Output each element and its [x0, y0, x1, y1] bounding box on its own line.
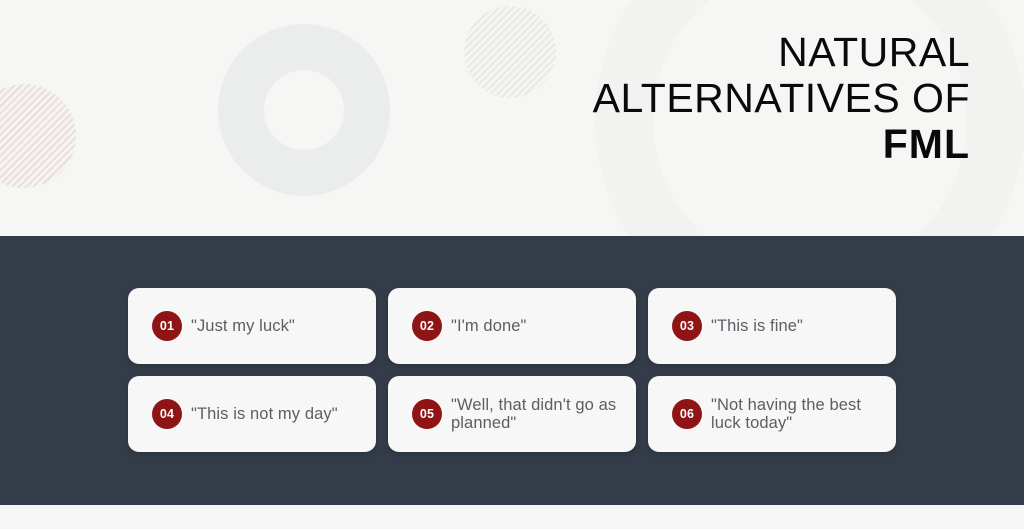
list-item[interactable]: 06 "Not having the best luck today"	[648, 376, 896, 452]
card-number-badge: 03	[672, 311, 702, 341]
title-line-3: FML	[593, 122, 970, 168]
list-item[interactable]: 02 "I'm done"	[388, 288, 636, 364]
card-number-badge: 04	[152, 399, 182, 429]
list-item[interactable]: 05 "Well, that didn't go as planned"	[388, 376, 636, 452]
alternatives-section: 01 "Just my luck" 02 "I'm done" 03 "This…	[0, 236, 1024, 505]
list-item[interactable]: 01 "Just my luck"	[128, 288, 376, 364]
page-title: NATURAL ALTERNATIVES OF FML	[593, 30, 970, 168]
card-number-badge: 05	[412, 399, 442, 429]
title-line-2: ALTERNATIVES OF	[593, 76, 970, 122]
striped-circle-gray-icon	[464, 6, 556, 98]
card-phrase: "This is not my day"	[191, 405, 338, 423]
card-phrase: "Not having the best luck today"	[711, 396, 882, 433]
title-line-1: NATURAL	[593, 30, 970, 76]
card-phrase: "Well, that didn't go as planned"	[451, 396, 622, 433]
list-item[interactable]: 03 "This is fine"	[648, 288, 896, 364]
footer-strip	[0, 505, 1024, 529]
card-phrase: "I'm done"	[451, 317, 526, 335]
card-phrase: "Just my luck"	[191, 317, 295, 335]
card-number-badge: 06	[672, 399, 702, 429]
card-phrase: "This is fine"	[711, 317, 803, 335]
header-banner: NATURAL ALTERNATIVES OF FML	[0, 0, 1024, 236]
alternatives-card-grid: 01 "Just my luck" 02 "I'm done" 03 "This…	[128, 288, 896, 452]
card-number-badge: 01	[152, 311, 182, 341]
list-item[interactable]: 04 "This is not my day"	[128, 376, 376, 452]
striped-circle-pink-icon	[0, 84, 76, 188]
card-number-badge: 02	[412, 311, 442, 341]
ring-circle-gray-icon	[218, 24, 390, 196]
